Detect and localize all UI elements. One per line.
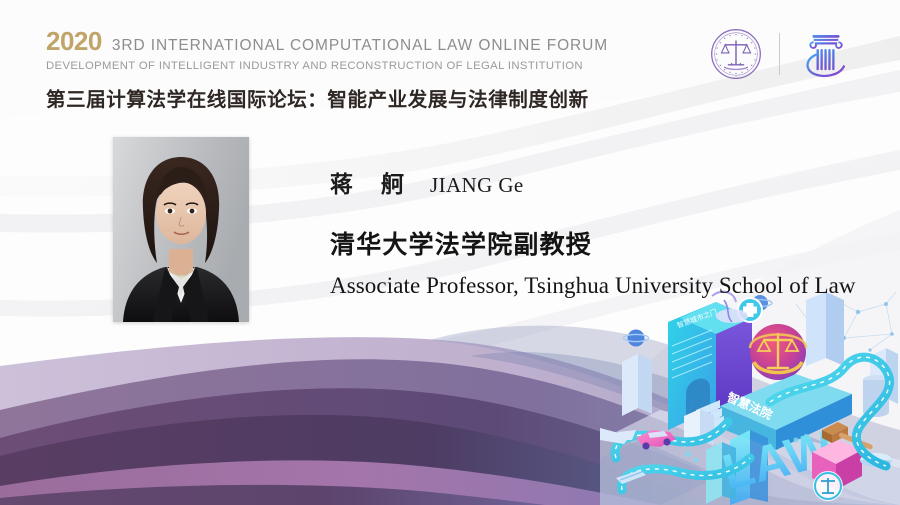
speaker-role-chinese: 清华大学法学院副教授 <box>330 225 856 261</box>
logo-divider <box>779 33 780 75</box>
speaker-photo <box>113 137 249 322</box>
speaker-name-english: JIANG Ge <box>430 173 524 198</box>
speaker-name-row: 蒋 舸 JIANG Ge <box>330 165 856 199</box>
forum-english-title: 3RD INTERNATIONAL COMPUTATIONAL LAW ONLI… <box>112 37 608 55</box>
forum-english-subtitle: DEVELOPMENT OF INTELLIGENT INDUSTRY AND … <box>46 60 608 72</box>
speaker-name-chinese: 蒋 舸 <box>330 165 414 199</box>
slide-header: 2020 3RD INTERNATIONAL COMPUTATIONAL LAW… <box>0 0 900 108</box>
forum-year: 2020 <box>46 28 102 54</box>
header-text-block: 2020 3RD INTERNATIONAL COMPUTATIONAL LAW… <box>46 28 608 112</box>
speaker-photo-graphic <box>113 137 249 322</box>
speaker-slide: 2020 3RD INTERNATIONAL COMPUTATIONAL LAW… <box>0 0 900 505</box>
smart-city-law-illustration: 智慧城市之门 智慧法院 <box>600 290 900 505</box>
university-law-school-seal-icon <box>709 27 763 81</box>
speaker-info: 蒋 舸 JIANG Ge 清华大学法学院副教授 Associate Profes… <box>330 165 856 299</box>
logo-group <box>709 26 856 82</box>
computational-law-column-icon <box>796 26 856 82</box>
smart-city-graphic: 智慧城市之门 智慧法院 <box>600 290 900 505</box>
speaker-role-english: Associate Professor, Tsinghua University… <box>330 273 856 299</box>
forum-chinese-title: 第三届计算法学在线国际论坛：智能产业发展与法律制度创新 <box>46 83 608 112</box>
header-english-line: 2020 3RD INTERNATIONAL COMPUTATIONAL LAW… <box>46 28 608 55</box>
